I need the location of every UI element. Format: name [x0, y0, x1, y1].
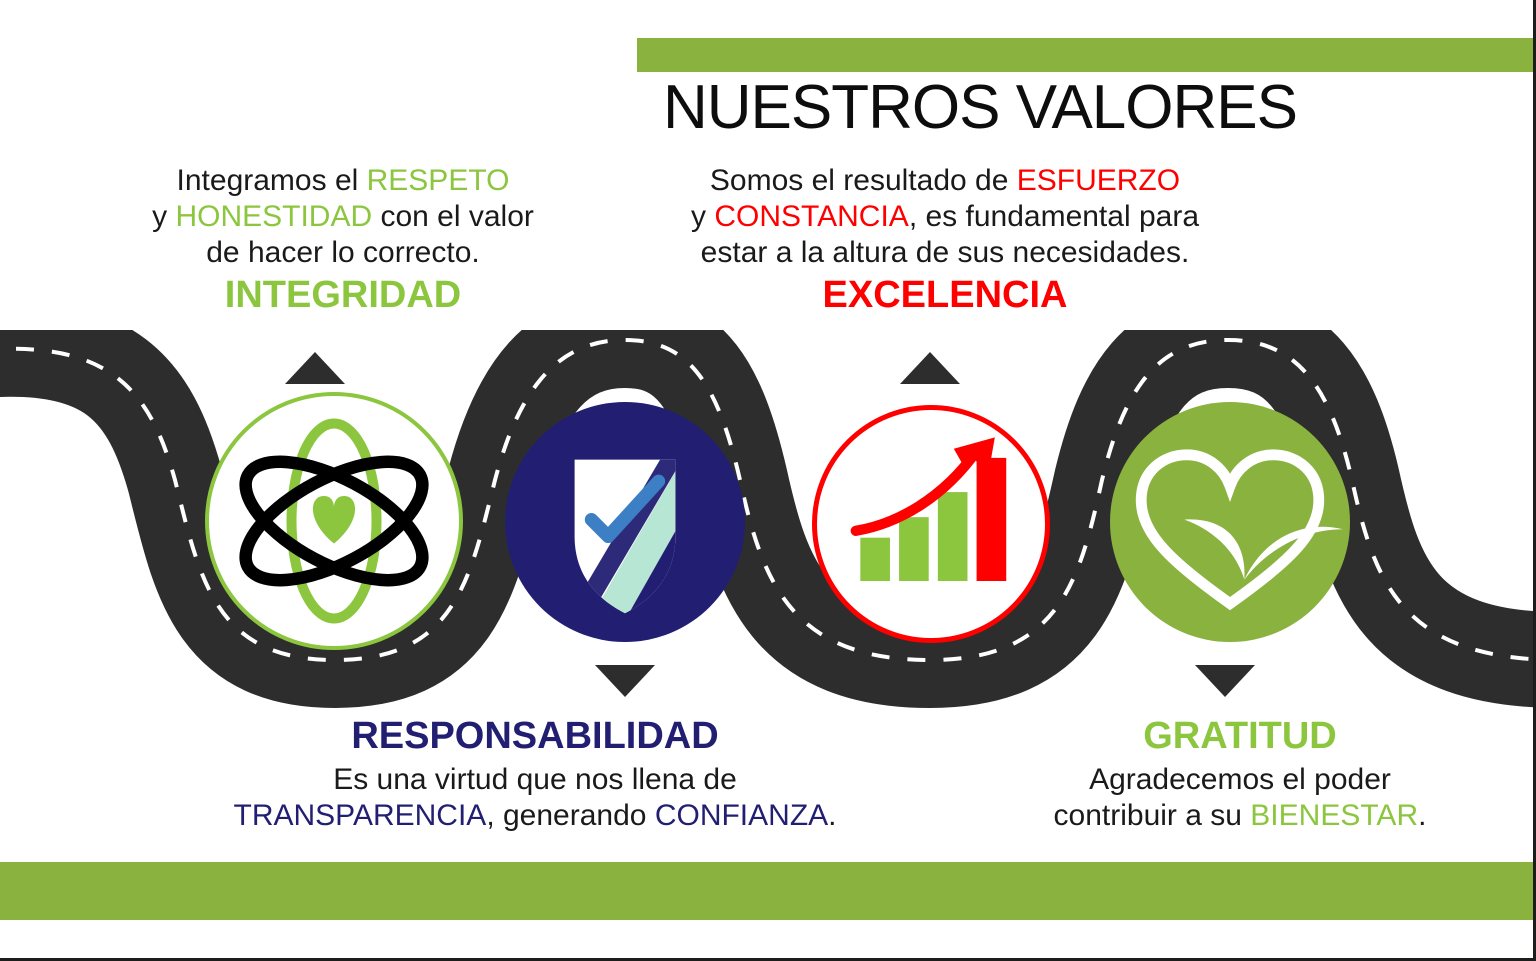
text-line: Es una virtud que nos llena de	[150, 762, 920, 798]
growth-chart-icon	[817, 410, 1045, 638]
text-segment: CONSTANCIA	[714, 200, 908, 233]
icon-circle-excelencia[interactable]	[812, 405, 1050, 643]
arrow-up-excelencia-icon	[900, 352, 960, 384]
text-segment: Integramos el	[177, 164, 367, 197]
text-segment: .	[828, 799, 836, 832]
icon-circle-gratitud[interactable]	[1110, 402, 1350, 642]
text-segment: Agradecemos el poder	[1089, 763, 1391, 796]
text-segment: BIENESTAR	[1250, 799, 1418, 832]
atom-heart-icon	[209, 396, 459, 646]
chart-bar-4	[977, 458, 1007, 581]
value-block-gratitud: GRATITUD Agradecemos el podercontribuir …	[1000, 712, 1480, 834]
text-segment: y	[152, 200, 175, 233]
text-line: Somos el resultado de ESFUERZO	[600, 163, 1290, 199]
chart-bar-3	[938, 492, 968, 581]
text-segment: de hacer lo correcto.	[206, 236, 479, 269]
text-segment: , es fundamental para	[909, 200, 1199, 233]
value-block-excelencia: Somos el resultado de ESFUERZOy CONSTANC…	[600, 163, 1290, 319]
page-title: NUESTROS VALORES	[620, 72, 1340, 143]
text-line: estar a la altura de sus necesidades.	[600, 235, 1290, 271]
text-segment: CONFIANZA	[655, 799, 828, 832]
text-segment: HONESTIDAD	[175, 200, 372, 233]
value-description-excelencia: Somos el resultado de ESFUERZOy CONSTANC…	[600, 163, 1290, 271]
text-segment: y	[691, 200, 714, 233]
text-line: y CONSTANCIA, es fundamental para	[600, 199, 1290, 235]
text-segment: TRANSPARENCIA	[234, 799, 487, 832]
icon-circle-responsabilidad[interactable]	[505, 402, 745, 642]
chart-bar-2	[899, 517, 929, 581]
heart-leaf-icon	[1110, 402, 1350, 642]
text-segment: contribuir a su	[1054, 799, 1251, 832]
chart-bar-1	[860, 538, 890, 581]
value-block-integridad: Integramos el RESPETOy HONESTIDAD con el…	[78, 163, 608, 319]
value-name-integridad: INTEGRIDAD	[78, 273, 608, 319]
value-name-excelencia: EXCELENCIA	[600, 273, 1290, 319]
text-segment: Es una virtud que nos llena de	[333, 763, 737, 796]
text-line: contribuir a su BIENESTAR.	[1000, 798, 1480, 834]
arrow-up-integridad-icon	[285, 352, 345, 384]
value-description-integridad: Integramos el RESPETOy HONESTIDAD con el…	[78, 163, 608, 271]
text-segment: estar a la altura de sus necesidades.	[701, 236, 1190, 269]
value-description-gratitud: Agradecemos el podercontribuir a su BIEN…	[1000, 762, 1480, 834]
text-segment: , generando	[486, 799, 654, 832]
text-segment: RESPETO	[367, 164, 510, 197]
text-line: Integramos el RESPETO	[78, 163, 608, 199]
infographic-slide: NUESTROS VALORES	[0, 0, 1536, 961]
text-segment: ESFUERZO	[1017, 164, 1180, 197]
arrow-down-responsabilidad-icon	[595, 665, 655, 697]
text-segment: .	[1418, 799, 1426, 832]
value-name-gratitud: GRATITUD	[1000, 714, 1480, 760]
shield-check-icon	[505, 402, 745, 642]
value-description-responsabilidad: Es una virtud que nos llena deTRANSPAREN…	[150, 762, 920, 834]
text-line: y HONESTIDAD con el valor	[78, 199, 608, 235]
value-name-responsabilidad: RESPONSABILIDAD	[150, 714, 920, 760]
icon-circle-integridad[interactable]	[205, 392, 463, 650]
top-accent-bar	[637, 38, 1536, 72]
value-block-responsabilidad: RESPONSABILIDAD Es una virtud que nos ll…	[150, 712, 920, 834]
text-segment: con el valor	[372, 200, 534, 233]
text-segment: Somos el resultado de	[710, 164, 1017, 197]
arrow-down-gratitud-icon	[1195, 665, 1255, 697]
text-line: TRANSPARENCIA, generando CONFIANZA.	[150, 798, 920, 834]
bottom-accent-bar	[0, 862, 1536, 920]
text-line: Agradecemos el poder	[1000, 762, 1480, 798]
text-line: de hacer lo correcto.	[78, 235, 608, 271]
